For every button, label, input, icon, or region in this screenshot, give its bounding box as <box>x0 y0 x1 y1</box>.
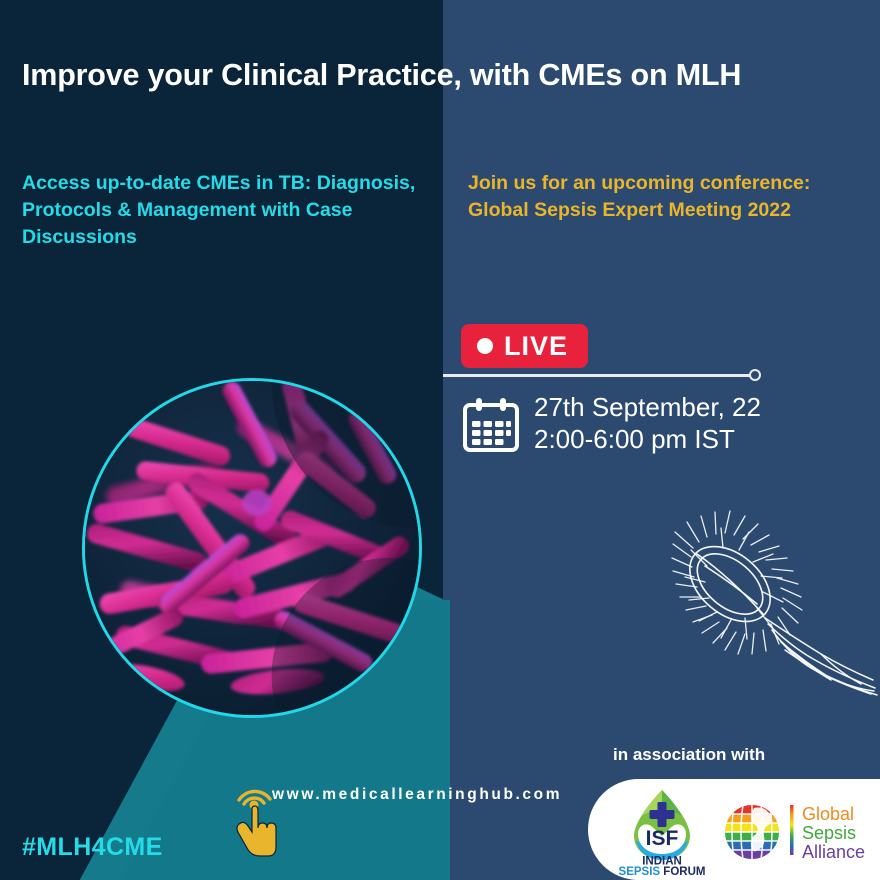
association-label: in association with <box>613 745 765 765</box>
tb-bacilli-microscopy-image <box>85 381 419 715</box>
live-badge-label: LIVE <box>504 333 568 360</box>
gsa-line1: Global <box>802 804 854 824</box>
isf-line2: SEPSIS FORUM <box>619 866 706 876</box>
right-column-text: Join us for an upcoming conference: Glob… <box>468 170 868 224</box>
event-time: 2:00-6:00 pm IST <box>534 424 761 456</box>
rainbow-divider-bar <box>790 805 794 855</box>
global-sepsis-alliance-logo: Global Sepsis Alliance <box>718 796 870 864</box>
rainbow-globe-icon <box>725 805 779 860</box>
hashtag: #MLH4CME <box>22 833 163 862</box>
live-badge[interactable]: LIVE <box>461 324 588 368</box>
website-url[interactable]: www.medicallearninghub.com <box>272 786 562 804</box>
isf-acronym: ISF <box>646 827 679 850</box>
timeline-end-marker <box>749 369 761 381</box>
promo-poster: Improve your Clinical Practice, with CME… <box>0 0 880 880</box>
gsa-line2: Sepsis <box>802 823 856 843</box>
calendar-icon <box>462 396 520 454</box>
event-datetime-row: 27th September, 22 2:00-6:00 pm IST <box>462 392 761 455</box>
microscopy-circle <box>82 378 422 718</box>
page-title: Improve your Clinical Practice, with CME… <box>22 58 872 93</box>
partner-logo-bar: ISF INDIAN SEPSIS FORUM <box>588 779 880 880</box>
live-dot-icon <box>477 338 493 354</box>
left-column-text: Access up-to-date CMEs in TB: Diagnosis,… <box>22 170 437 251</box>
bacterium-line-art <box>635 492 880 712</box>
event-date: 27th September, 22 <box>534 392 761 424</box>
gsa-line3: Alliance <box>802 842 865 862</box>
timeline-divider <box>443 374 755 377</box>
isf-logo: ISF INDIAN SEPSIS FORUM <box>608 784 716 876</box>
